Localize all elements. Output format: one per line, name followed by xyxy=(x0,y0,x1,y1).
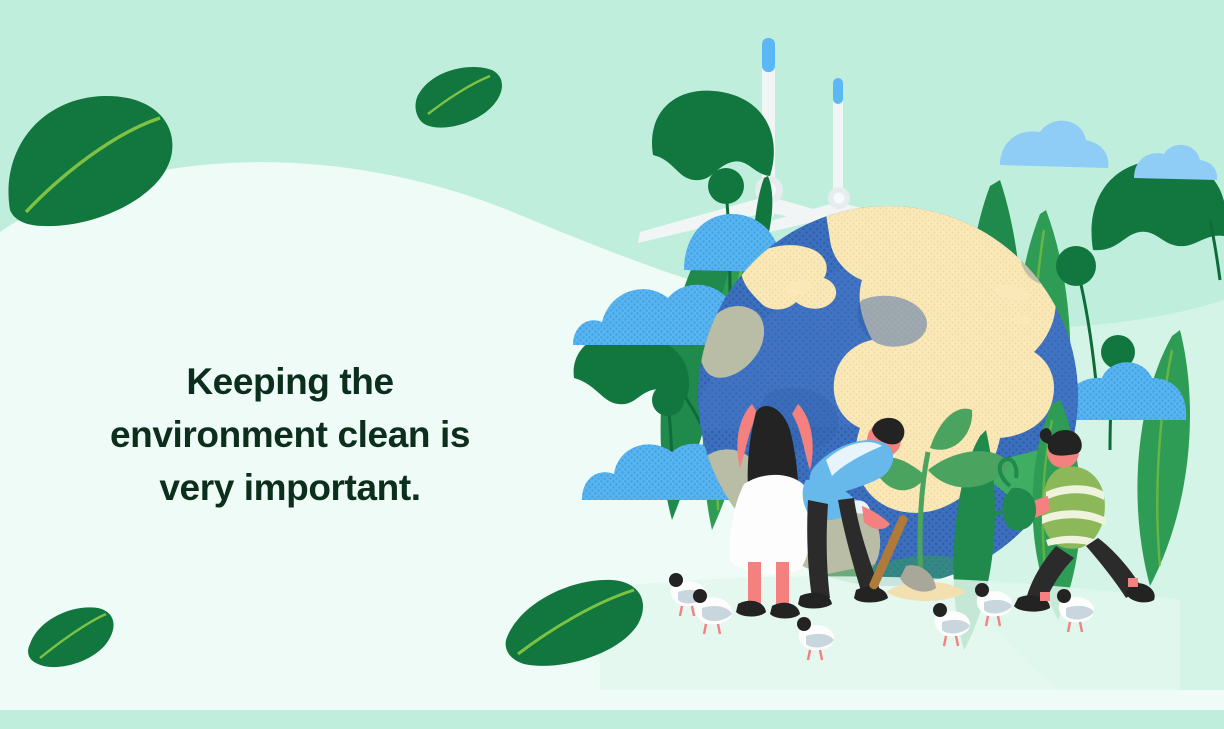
leg xyxy=(807,500,830,598)
bottom-strip xyxy=(0,710,1224,729)
dress xyxy=(730,475,813,574)
environment-illustration xyxy=(0,0,1224,729)
island xyxy=(1013,315,1031,325)
poster-canvas: Keeping the environment clean is very im… xyxy=(0,0,1224,729)
